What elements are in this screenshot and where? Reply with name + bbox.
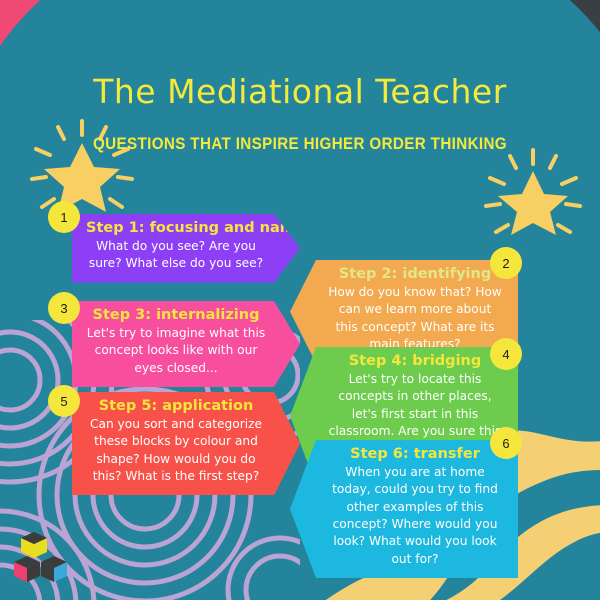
step-block-1[interactable]: Step 1: focusing and naming What do you … xyxy=(72,214,300,283)
step-body-2: How do you know that? How can we learn m… xyxy=(326,284,504,353)
step-title-6: Step 6: transfer xyxy=(326,446,504,462)
step-body-1: What do you see? Are you sure? What else… xyxy=(86,238,266,273)
step-badge-5: 5 xyxy=(48,385,80,417)
step-body-6: When you are at home today, could you tr… xyxy=(326,464,504,568)
page-subtitle: QUESTIONS THAT INSPIRE HIGHER ORDER THIN… xyxy=(24,135,576,154)
step-block-3[interactable]: Step 3: internalizing Let's try to imagi… xyxy=(72,301,300,387)
step-block-6[interactable]: Step 6: transfer When you are at home to… xyxy=(290,440,518,578)
step-title-5: Step 5: application xyxy=(86,398,266,414)
step-block-5[interactable]: Step 5: application Can you sort and cat… xyxy=(72,392,300,495)
step-badge-4: 4 xyxy=(490,338,522,370)
page-title: The Mediational Teacher xyxy=(0,72,600,111)
step-badge-1: 1 xyxy=(48,201,80,233)
three-blocks-logo xyxy=(14,528,76,586)
step-title-4: Step 4: bridging xyxy=(326,353,504,369)
step-body-3: Let's try to imagine what this concept l… xyxy=(86,325,266,377)
poster-canvas: The Mediational Teacher QUESTIONS THAT I… xyxy=(0,0,600,600)
step-badge-6: 6 xyxy=(490,427,522,459)
step-title-2: Step 2: identifying xyxy=(326,266,504,282)
step-badge-2: 2 xyxy=(490,247,522,279)
step-badge-3: 3 xyxy=(48,292,80,324)
step-body-5: Can you sort and categorize these blocks… xyxy=(86,416,266,485)
star-icon xyxy=(22,105,142,220)
step-title-3: Step 3: internalizing xyxy=(86,307,266,323)
step-title-1: Step 1: focusing and naming xyxy=(86,220,266,236)
